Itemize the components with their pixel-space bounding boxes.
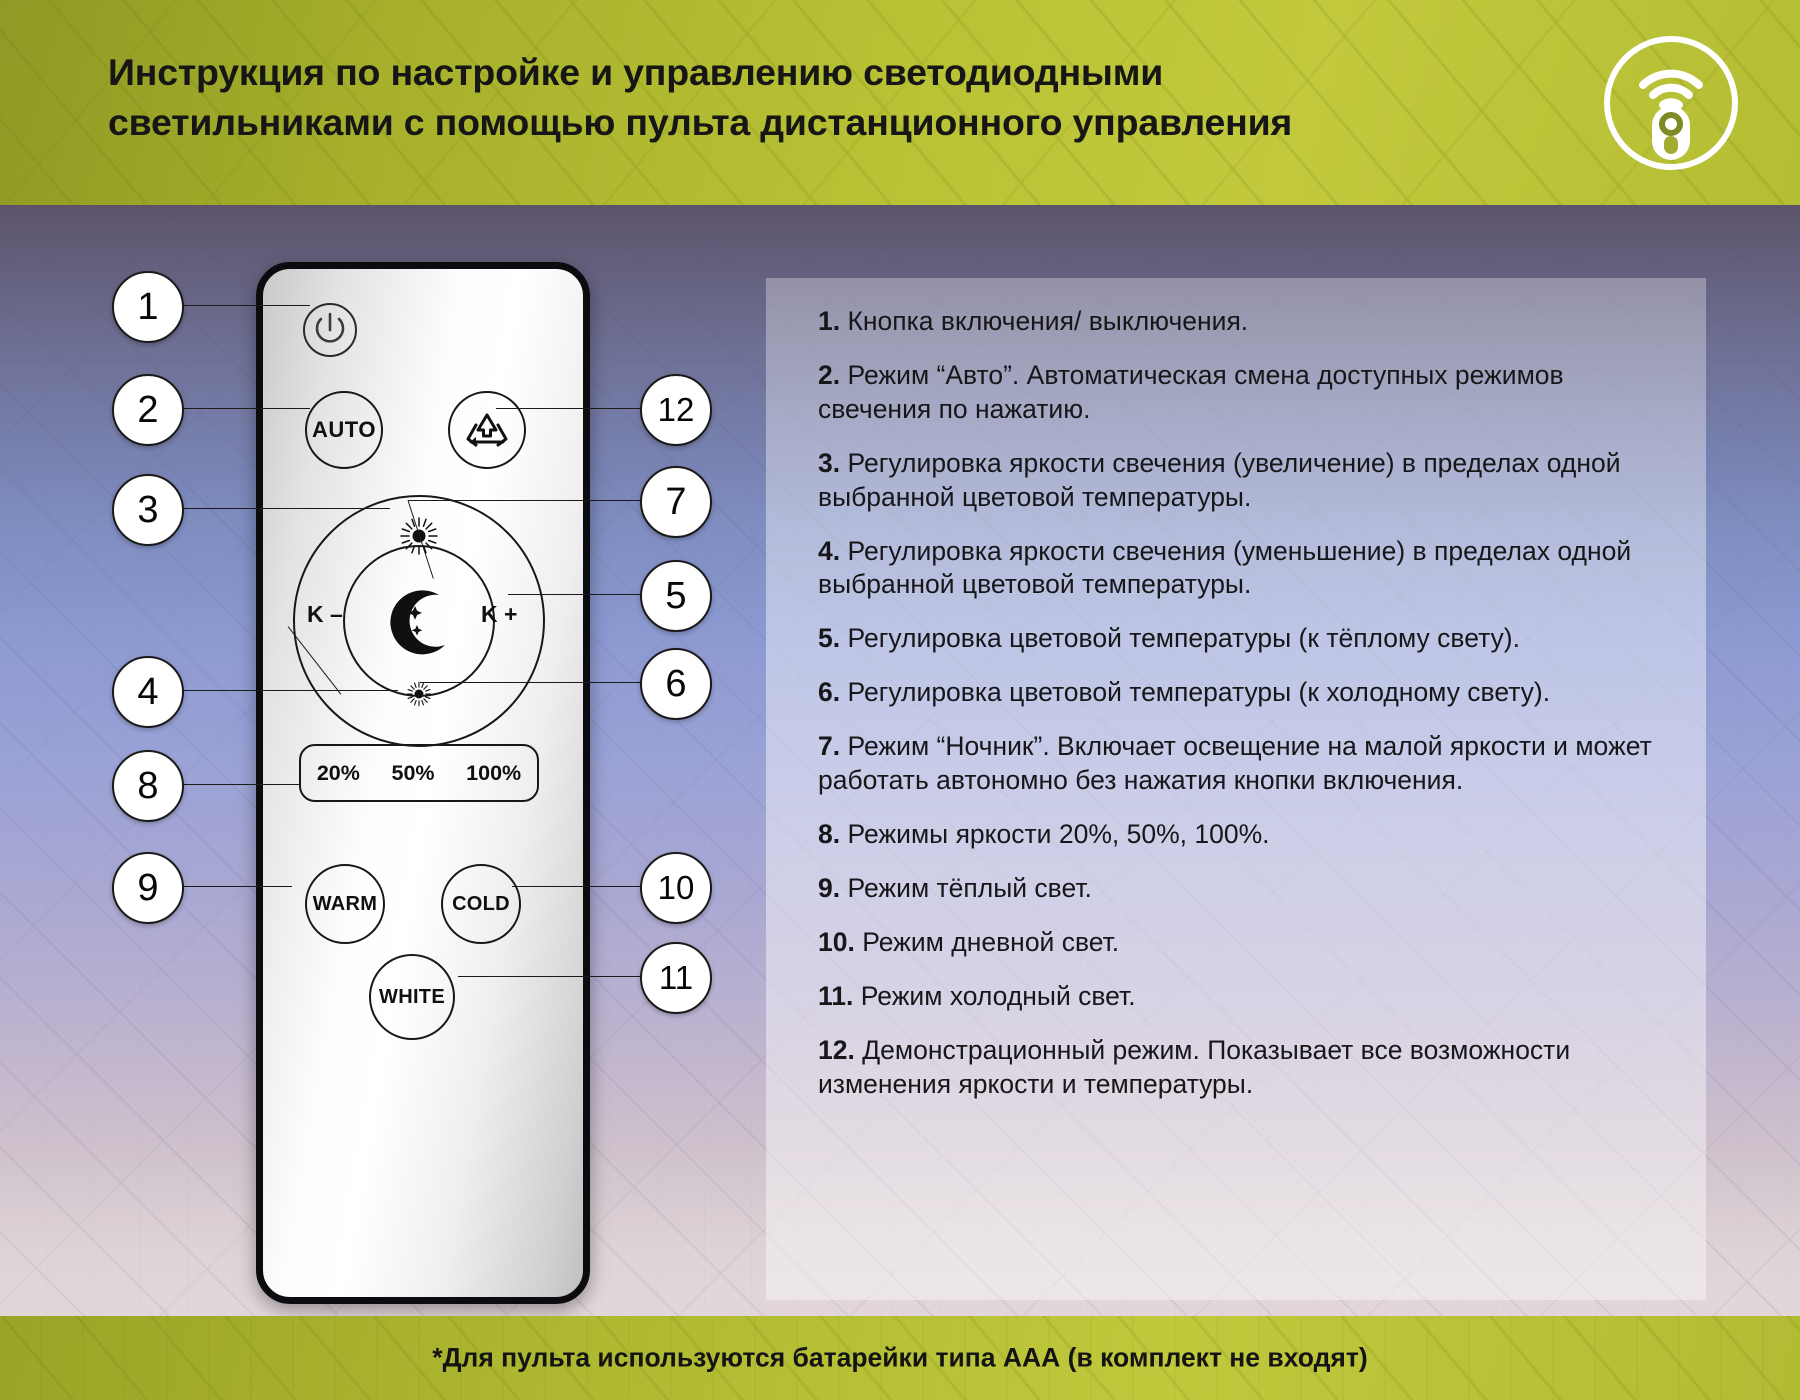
callout-bubble-3-label: 3: [137, 489, 158, 532]
instruction-number: 6.: [818, 677, 840, 707]
instructions-panel: 1. Кнопка включения/ выключения.2. Режим…: [766, 278, 1706, 1300]
page-title: Инструкция по настройке и управлению све…: [108, 48, 1488, 147]
instruction-number: 2.: [818, 360, 840, 390]
power-button[interactable]: [303, 303, 357, 357]
instruction-item: 4. Регулировка яркости свечения (уменьше…: [818, 535, 1668, 603]
instruction-item: 3. Регулировка яркости свечения (увеличе…: [818, 447, 1668, 515]
instruction-number: 10.: [818, 927, 855, 957]
remote-signal-icon: [1598, 30, 1744, 176]
leader-line-8: [180, 784, 300, 785]
instruction-number: 11.: [818, 981, 853, 1011]
callout-bubble-12-label: 12: [658, 391, 695, 429]
brightness-levels-bar[interactable]: 20% 50% 100%: [299, 744, 539, 802]
night-mode-button[interactable]: [343, 545, 495, 697]
callout-bubble-4[interactable]: 4: [112, 656, 184, 728]
instruction-text: Режим дневной свет.: [855, 927, 1119, 957]
instruction-item: 6. Регулировка цветовой температуры (к х…: [818, 676, 1668, 710]
warm-button-label: WARM: [313, 893, 378, 916]
callout-bubble-10[interactable]: 10: [640, 852, 712, 924]
callout-bubble-8[interactable]: 8: [112, 750, 184, 822]
instruction-text: Кнопка включения/ выключения.: [840, 306, 1248, 336]
callout-bubble-11-label: 11: [659, 959, 693, 997]
callout-bubble-4-label: 4: [137, 671, 158, 714]
white-button[interactable]: WHITE: [369, 954, 455, 1040]
instruction-item: 8. Режимы яркости 20%, 50%, 100%.: [818, 818, 1668, 852]
callout-bubble-6[interactable]: 6: [640, 648, 712, 720]
instruction-number: 5.: [818, 623, 840, 653]
instruction-text: Регулировка яркости свечения (увеличение…: [818, 448, 1621, 512]
callout-bubble-7-label: 7: [665, 481, 686, 524]
power-icon: [305, 305, 355, 355]
instruction-item: 2. Режим “Авто”. Автоматическая смена до…: [818, 359, 1668, 427]
callout-bubble-11[interactable]: 11: [640, 942, 712, 1014]
leader-line-11: [458, 976, 642, 977]
callout-bubble-9-label: 9: [137, 867, 158, 910]
warm-button[interactable]: WARM: [305, 864, 385, 944]
demo-button[interactable]: [448, 391, 526, 469]
white-button-label: WHITE: [379, 986, 445, 1009]
leader-line-1: [180, 305, 310, 306]
instruction-number: 4.: [818, 536, 840, 566]
callout-bubble-8-label: 8: [137, 765, 158, 808]
callout-bubble-2-label: 2: [137, 389, 158, 432]
instruction-text: Режим “Ночник”. Включает освещение на ма…: [818, 731, 1652, 795]
leader-line-7: [408, 500, 642, 501]
k-plus-button[interactable]: K +: [481, 601, 517, 628]
instruction-item: 11. Режим холодный свет.: [818, 980, 1668, 1014]
auto-button-label: AUTO: [312, 417, 376, 443]
callout-bubble-10-label: 10: [658, 869, 695, 907]
callout-bubble-7[interactable]: 7: [640, 466, 712, 538]
instruction-item: 5. Регулировка цветовой температуры (к т…: [818, 622, 1668, 656]
infographic-page: Инструкция по настройке и управлению све…: [0, 0, 1800, 1400]
instruction-item: 9. Режим тёплый свет.: [818, 872, 1668, 906]
leader-line-10: [512, 886, 642, 887]
moon-stars-icon: [371, 573, 467, 669]
callout-bubble-5-label: 5: [665, 575, 686, 618]
cold-button[interactable]: COLD: [441, 864, 521, 944]
instruction-text: Регулировка цветовой температуры (к холо…: [840, 677, 1550, 707]
leader-line-5: [508, 594, 642, 595]
header-banner: Инструкция по настройке и управлению све…: [0, 0, 1800, 205]
callout-bubble-12[interactable]: 12: [640, 374, 712, 446]
brightness-down-button[interactable]: [406, 681, 432, 707]
remote-control-device: AUTO: [256, 262, 590, 1304]
k-minus-button[interactable]: K –: [307, 601, 343, 628]
leader-line-3: [180, 508, 390, 509]
leader-line-4: [180, 690, 398, 691]
sun-dim-icon: [406, 681, 432, 707]
instruction-number: 8.: [818, 819, 840, 849]
instruction-text: Демонстрационный режим. Показывает все в…: [818, 1035, 1570, 1099]
callout-bubble-3[interactable]: 3: [112, 474, 184, 546]
instructions-list: 1. Кнопка включения/ выключения.2. Режим…: [818, 305, 1668, 1121]
instruction-text: Режимы яркости 20%, 50%, 100%.: [840, 819, 1269, 849]
instruction-number: 7.: [818, 731, 840, 761]
battery-note: *Для пульта используются батарейки типа …: [0, 1343, 1800, 1374]
brightness-level-50[interactable]: 50%: [391, 761, 434, 786]
footer-banner: *Для пульта используются батарейки типа …: [0, 1316, 1800, 1400]
instruction-item: 12. Демонстрационный режим. Показывает в…: [818, 1034, 1668, 1102]
leader-line-6: [420, 682, 642, 683]
callout-bubble-1-label: 1: [137, 286, 158, 329]
leader-line-9: [180, 886, 292, 887]
callout-bubble-2[interactable]: 2: [112, 374, 184, 446]
page-title-line2: светильниками с помощью пульта дистанцио…: [108, 98, 1488, 148]
page-title-line1: Инструкция по настройке и управлению све…: [108, 48, 1488, 98]
instruction-item: 10. Режим дневной свет.: [818, 926, 1668, 960]
leader-line-2: [180, 408, 310, 409]
instruction-number: 12.: [818, 1035, 855, 1065]
cold-button-label: COLD: [452, 893, 510, 916]
instruction-number: 9.: [818, 873, 840, 903]
callout-bubble-9[interactable]: 9: [112, 852, 184, 924]
instruction-number: 1.: [818, 306, 840, 336]
instruction-text: Режим холодный свет.: [853, 981, 1135, 1011]
instruction-text: Регулировка цветовой температуры (к тёпл…: [840, 623, 1520, 653]
callout-bubble-5[interactable]: 5: [640, 560, 712, 632]
instruction-text: Регулировка яркости свечения (уменьшение…: [818, 536, 1631, 600]
instruction-item: 1. Кнопка включения/ выключения.: [818, 305, 1668, 339]
instruction-item: 7. Режим “Ночник”. Включает освещение на…: [818, 730, 1668, 798]
recycle-icon: [462, 405, 512, 455]
instruction-text: Режим “Авто”. Автоматическая смена досту…: [818, 360, 1564, 424]
instruction-number: 3.: [818, 448, 840, 478]
auto-button[interactable]: AUTO: [305, 391, 383, 469]
brightness-level-100[interactable]: 100%: [466, 761, 521, 786]
leader-line-12: [496, 408, 642, 409]
callout-bubble-6-label: 6: [665, 663, 686, 706]
brightness-level-20[interactable]: 20%: [317, 761, 360, 786]
callout-bubble-1[interactable]: 1: [112, 271, 184, 343]
instruction-text: Режим тёплый свет.: [840, 873, 1092, 903]
